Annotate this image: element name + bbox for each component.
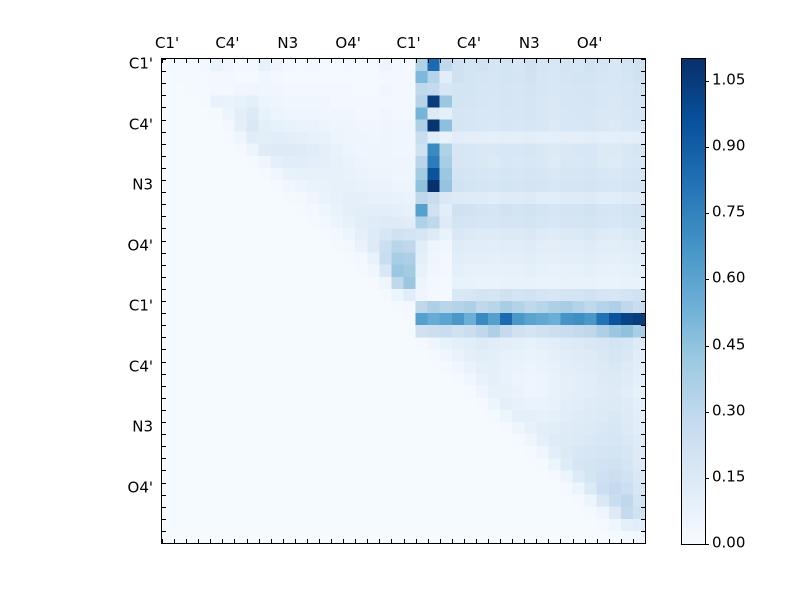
axis-tick xyxy=(641,531,645,532)
axis-tick xyxy=(271,59,272,63)
axis-tick xyxy=(641,83,645,84)
axis-tick xyxy=(162,144,166,145)
axis-tick xyxy=(641,216,645,217)
y-tick-label: O4' xyxy=(115,480,153,495)
axis-tick xyxy=(641,519,645,520)
axis-tick xyxy=(585,59,586,63)
axis-tick xyxy=(162,374,166,375)
axis-tick xyxy=(162,253,166,254)
axis-tick xyxy=(404,59,405,63)
axis-tick xyxy=(645,59,646,63)
axis-tick xyxy=(536,59,537,63)
axis-tick xyxy=(428,59,429,63)
axis-tick xyxy=(162,132,166,133)
colorbar-gradient xyxy=(682,59,705,544)
axis-tick xyxy=(641,398,645,399)
axis-tick xyxy=(186,59,187,63)
axis-tick xyxy=(641,325,645,326)
axis-tick xyxy=(641,458,645,459)
axis-tick xyxy=(641,71,645,72)
axis-tick xyxy=(500,59,501,63)
axis-tick xyxy=(162,349,166,350)
heatmap-axes[interactable] xyxy=(161,58,646,544)
axis-tick xyxy=(476,539,477,543)
axis-tick xyxy=(234,539,235,543)
axis-tick xyxy=(641,362,645,363)
axis-tick xyxy=(641,386,645,387)
colorbar-tick-label: 1.05 xyxy=(712,73,745,88)
axis-tick xyxy=(416,59,417,63)
axis-tick xyxy=(283,59,284,63)
axis-tick xyxy=(259,59,260,63)
axis-tick xyxy=(162,228,166,229)
axis-tick xyxy=(641,120,645,121)
axis-tick xyxy=(162,410,166,411)
axis-tick xyxy=(307,59,308,63)
axis-tick xyxy=(174,539,175,543)
x-tick-label: N3 xyxy=(519,36,540,51)
axis-tick xyxy=(162,325,166,326)
axis-tick xyxy=(641,349,645,350)
axis-tick xyxy=(162,337,166,338)
axis-tick xyxy=(162,71,166,72)
axis-tick xyxy=(641,289,645,290)
axis-tick xyxy=(488,539,489,543)
axis-tick xyxy=(641,507,645,508)
axis-tick xyxy=(162,289,166,290)
axis-tick xyxy=(162,313,166,314)
axis-tick xyxy=(331,539,332,543)
axis-tick xyxy=(621,539,622,543)
axis-tick xyxy=(210,539,211,543)
axis-tick xyxy=(488,59,489,63)
axis-tick xyxy=(162,362,166,363)
y-tick-label: C1' xyxy=(115,57,153,72)
axis-tick xyxy=(641,241,645,242)
axis-tick xyxy=(404,539,405,543)
axis-tick xyxy=(355,539,356,543)
axis-tick xyxy=(641,144,645,145)
y-tick-label: N3 xyxy=(115,420,153,435)
axis-tick xyxy=(331,59,332,63)
axis-tick xyxy=(367,59,368,63)
colorbar-tick-label: 0.90 xyxy=(712,139,745,154)
axis-tick xyxy=(641,434,645,435)
axis-tick xyxy=(573,539,574,543)
x-tick-label: C1' xyxy=(396,36,420,51)
axis-tick xyxy=(512,59,513,63)
x-tick-label: C4' xyxy=(457,36,481,51)
axis-tick xyxy=(391,539,392,543)
axis-tick xyxy=(548,539,549,543)
axis-tick xyxy=(283,539,284,543)
axis-tick xyxy=(162,95,166,96)
x-tick-label: C1' xyxy=(155,36,179,51)
y-tick-label: O4' xyxy=(115,238,153,253)
axis-tick xyxy=(641,422,645,423)
axis-tick xyxy=(162,531,166,532)
axis-tick xyxy=(162,386,166,387)
axis-tick xyxy=(247,59,248,63)
axis-tick xyxy=(621,59,622,63)
axis-tick xyxy=(641,204,645,205)
axis-tick xyxy=(162,265,166,266)
axis-tick xyxy=(440,59,441,63)
axis-tick xyxy=(162,241,166,242)
axis-tick xyxy=(379,539,380,543)
axis-tick xyxy=(464,59,465,63)
axis-tick xyxy=(641,253,645,254)
axis-tick xyxy=(573,59,574,63)
axis-tick xyxy=(641,180,645,181)
y-tick-label: C4' xyxy=(115,359,153,374)
axis-tick xyxy=(452,539,453,543)
axis-tick xyxy=(162,120,166,121)
axis-tick xyxy=(585,539,586,543)
axis-tick xyxy=(641,301,645,302)
axis-tick xyxy=(162,180,166,181)
axis-tick xyxy=(162,83,166,84)
axis-tick xyxy=(428,539,429,543)
axis-tick xyxy=(259,539,260,543)
axis-tick xyxy=(641,495,645,496)
axis-tick xyxy=(162,398,166,399)
axis-tick xyxy=(162,277,166,278)
axis-tick xyxy=(295,59,296,63)
axis-tick xyxy=(416,539,417,543)
axis-tick xyxy=(633,59,634,63)
axis-tick xyxy=(162,422,166,423)
axis-tick xyxy=(641,313,645,314)
colorbar-tick xyxy=(705,412,709,413)
y-tick-label: C4' xyxy=(115,117,153,132)
axis-tick xyxy=(162,495,166,496)
axis-tick xyxy=(641,277,645,278)
axis-tick xyxy=(162,168,166,169)
axis-tick xyxy=(560,59,561,63)
colorbar[interactable] xyxy=(681,58,706,545)
axis-tick xyxy=(367,539,368,543)
axis-tick xyxy=(609,59,610,63)
axis-tick xyxy=(162,204,166,205)
colorbar-tick-label: 0.30 xyxy=(712,403,745,418)
axis-tick xyxy=(222,539,223,543)
axis-tick xyxy=(198,539,199,543)
axis-tick xyxy=(162,519,166,520)
x-tick-label: C4' xyxy=(215,36,239,51)
axis-tick xyxy=(476,59,477,63)
colorbar-tick xyxy=(705,346,709,347)
axis-tick xyxy=(307,539,308,543)
axis-tick xyxy=(162,59,166,60)
axis-tick xyxy=(162,107,166,108)
colorbar-tick xyxy=(705,544,709,545)
axis-tick xyxy=(641,107,645,108)
axis-tick xyxy=(641,228,645,229)
colorbar-tick-label: 0.75 xyxy=(712,205,745,220)
colorbar-tick-label: 0.00 xyxy=(712,536,745,551)
axis-tick xyxy=(319,59,320,63)
colorbar-tick xyxy=(705,147,709,148)
colorbar-tick-label: 0.60 xyxy=(712,271,745,286)
axis-tick xyxy=(162,470,166,471)
axis-tick xyxy=(641,168,645,169)
axis-tick xyxy=(524,59,525,63)
colorbar-tick xyxy=(705,81,709,82)
axis-tick xyxy=(174,59,175,63)
axis-tick xyxy=(355,59,356,63)
axis-tick xyxy=(641,446,645,447)
axis-tick xyxy=(633,539,634,543)
axis-tick xyxy=(597,59,598,63)
axis-tick xyxy=(247,539,248,543)
axis-tick xyxy=(560,539,561,543)
axis-tick xyxy=(500,539,501,543)
axis-tick xyxy=(536,539,537,543)
axis-tick xyxy=(548,59,549,63)
colorbar-tick-label: 0.45 xyxy=(712,337,745,352)
axis-tick xyxy=(162,192,166,193)
heatmap-image[interactable] xyxy=(162,59,645,543)
axis-tick xyxy=(641,543,645,544)
axis-tick xyxy=(524,539,525,543)
axis-tick xyxy=(198,59,199,63)
axis-tick xyxy=(162,216,166,217)
colorbar-tick xyxy=(705,279,709,280)
axis-tick xyxy=(162,483,166,484)
axis-tick xyxy=(641,470,645,471)
axis-tick xyxy=(391,59,392,63)
axis-tick xyxy=(162,156,166,157)
figure-root: C1'C4'N3O4'C1'C4'N3O4' C1'C4'N3O4'C1'C4'… xyxy=(0,0,800,600)
axis-tick xyxy=(186,539,187,543)
y-tick-label: N3 xyxy=(115,178,153,193)
axis-tick xyxy=(162,507,166,508)
axis-tick xyxy=(641,337,645,338)
colorbar-tick-label: 0.15 xyxy=(712,469,745,484)
axis-tick xyxy=(162,446,166,447)
axis-tick xyxy=(641,410,645,411)
axis-tick xyxy=(641,132,645,133)
x-tick-label: O4' xyxy=(577,36,602,51)
axis-tick xyxy=(343,59,344,63)
axis-tick xyxy=(464,539,465,543)
axis-tick xyxy=(597,539,598,543)
y-tick-label: C1' xyxy=(115,299,153,314)
axis-tick xyxy=(440,539,441,543)
axis-tick xyxy=(641,59,645,60)
axis-tick xyxy=(162,301,166,302)
colorbar-tick xyxy=(705,213,709,214)
axis-tick xyxy=(452,59,453,63)
x-tick-label: N3 xyxy=(277,36,298,51)
axis-tick xyxy=(641,95,645,96)
axis-tick xyxy=(512,539,513,543)
axis-tick xyxy=(234,59,235,63)
axis-tick xyxy=(222,59,223,63)
axis-tick xyxy=(162,543,166,544)
axis-tick xyxy=(210,59,211,63)
colorbar-tick xyxy=(705,478,709,479)
axis-tick xyxy=(641,265,645,266)
axis-tick xyxy=(343,539,344,543)
axis-tick xyxy=(162,458,166,459)
axis-tick xyxy=(609,539,610,543)
axis-tick xyxy=(641,483,645,484)
axis-tick xyxy=(379,59,380,63)
axis-tick xyxy=(641,156,645,157)
axis-tick xyxy=(645,539,646,543)
axis-tick xyxy=(641,374,645,375)
axis-tick xyxy=(319,539,320,543)
axis-tick xyxy=(295,539,296,543)
x-tick-label: O4' xyxy=(335,36,360,51)
axis-tick xyxy=(271,539,272,543)
axis-tick xyxy=(162,434,166,435)
axis-tick xyxy=(641,192,645,193)
